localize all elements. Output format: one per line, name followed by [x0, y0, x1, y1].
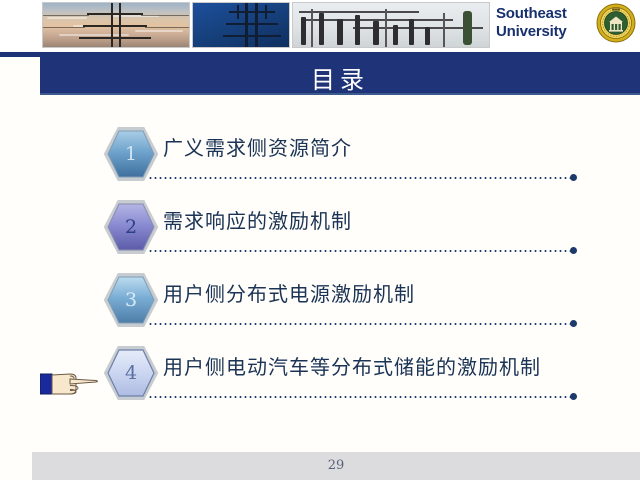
pylon-brace — [265, 5, 267, 19]
university-name-line2: University — [496, 23, 586, 41]
toc-leader-line — [148, 250, 572, 252]
power-wire — [43, 27, 85, 28]
substation-switchyard-photo — [292, 2, 490, 48]
pylon-crossarm — [87, 13, 143, 15]
power-wire — [43, 15, 89, 16]
pylon-brace — [237, 5, 239, 19]
toc-item-label: 用户侧分布式电源激励机制 — [163, 278, 415, 307]
insulator-stack — [337, 19, 343, 45]
insulator-stack — [409, 19, 414, 45]
gantry-post — [443, 13, 445, 47]
toc-leader-end-dot — [570, 174, 577, 181]
toc-leader-end-dot — [570, 247, 577, 254]
toc-item-label: 需求响应的激励机制 — [163, 205, 352, 234]
pylon-crossarm — [229, 11, 275, 13]
insulator-stack — [319, 13, 324, 45]
toc-number-hexagon-1[interactable]: 1 — [103, 126, 159, 182]
page-number: 29 — [32, 458, 640, 473]
power-wire — [145, 27, 190, 28]
toc-item-2[interactable]: 2 需求响应的激励机制 — [0, 185, 640, 258]
page-title: 目录 — [40, 60, 640, 95]
insulator-stack — [373, 21, 379, 45]
cloud-streak — [135, 30, 183, 32]
transmission-tower-blue-sky-photo — [192, 2, 290, 48]
university-name-line1: Southeast — [496, 5, 586, 23]
toc-item-label: 广义需求侧资源简介 — [163, 132, 352, 161]
toc-item-3[interactable]: 3 用户侧分布式电源激励机制 — [0, 258, 640, 331]
insulator-stack — [463, 11, 472, 45]
university-name: Southeast University — [496, 5, 586, 41]
pylon-crossarm — [79, 37, 151, 39]
toc-number-hexagon-4[interactable]: 4 — [103, 345, 159, 401]
pylon-crossarm — [83, 25, 147, 27]
pylon-crossarm — [226, 23, 278, 25]
toc-number-hexagon-2[interactable]: 2 — [103, 199, 159, 255]
power-wire — [141, 15, 190, 16]
gantry-post — [385, 9, 387, 47]
transmission-tower-sunset-photo — [42, 2, 190, 48]
toc-leader-line — [148, 396, 572, 398]
toc-leader-line — [148, 177, 572, 179]
toc-leader-line — [148, 323, 572, 325]
university-seal-icon — [596, 3, 636, 43]
insulator-stack — [393, 25, 398, 45]
pylon-crossarm — [223, 35, 281, 37]
insulator-stack — [425, 27, 430, 45]
toc-item-1[interactable]: 1 广义需求侧资源简介 — [0, 112, 640, 185]
toc-leader-end-dot — [570, 393, 577, 400]
toc-item-label: 用户侧电动汽车等分布式储能的激励机制 — [163, 351, 541, 380]
header-band: Southeast University — [0, 0, 640, 52]
footer-band: 29 — [32, 452, 640, 480]
toc-leader-end-dot — [570, 320, 577, 327]
insulator-stack — [301, 17, 306, 45]
busbar — [299, 11, 419, 13]
cloud-streak — [47, 17, 87, 19]
gantry-post — [311, 9, 313, 47]
table-of-contents: 1 广义需求侧资源简介 — [0, 112, 640, 404]
title-bar: 目录 — [40, 57, 640, 95]
insulator-stack — [355, 15, 360, 45]
toc-number-hexagon-3[interactable]: 3 — [103, 272, 159, 328]
blue-sky — [193, 3, 289, 47]
hand-pointer-icon — [40, 366, 102, 400]
slide-canvas: Southeast University — [0, 0, 640, 480]
